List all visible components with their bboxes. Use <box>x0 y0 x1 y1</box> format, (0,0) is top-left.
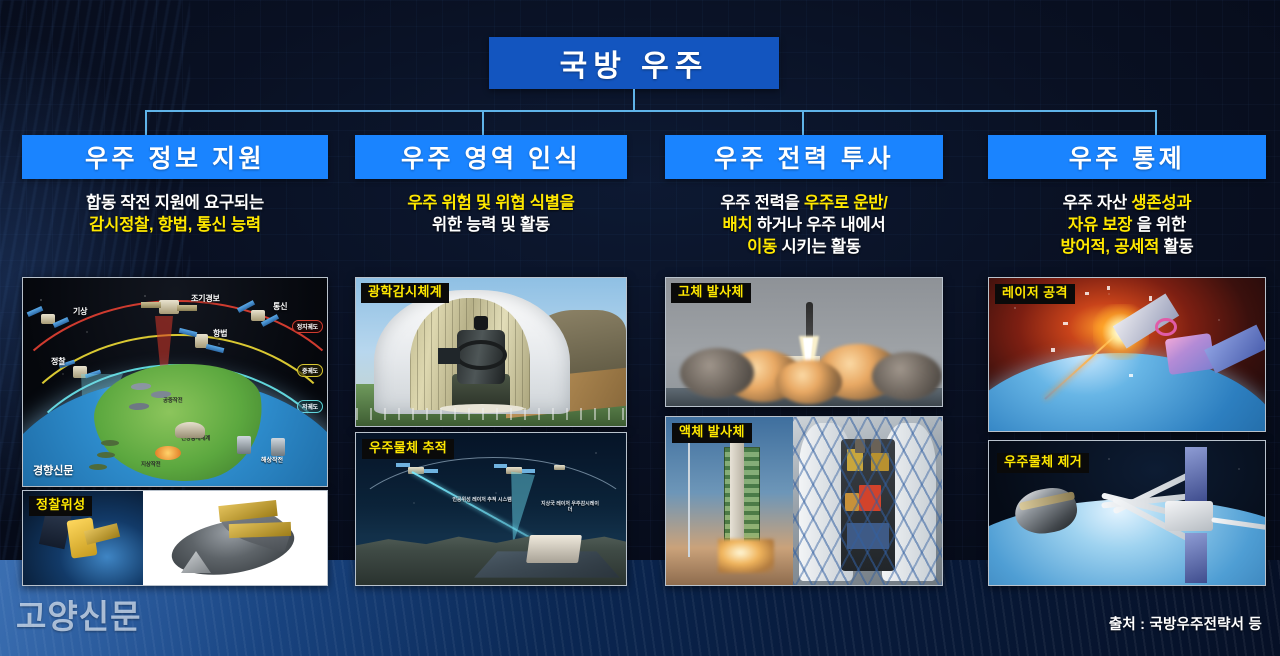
publisher-watermark: 고양신문 <box>16 590 141 638</box>
tracked-satellite-1-wing-right <box>424 469 438 473</box>
column-2-header-label: 우주 영역 인식 <box>401 139 581 175</box>
satellite-label-navigation: 항법 <box>213 328 227 339</box>
debris-fragment-3 <box>1107 286 1110 290</box>
servicer-solar-panel-top <box>1185 447 1207 501</box>
asset-ground-vehicle-3 <box>89 464 107 470</box>
connector-title-vertical <box>633 89 635 111</box>
panel-satellite-operations-diagram: 정지궤도 중궤도 저궤도 기상 조기경보 통신 항법 정찰 공중작전 지상 <box>22 277 328 487</box>
connector-branch-4 <box>1155 110 1157 137</box>
column-1-header: 우주 정보 지원 <box>22 135 328 179</box>
connector-branch-3 <box>802 110 804 137</box>
column-4-desc-line-3: 방어적, 공세적 활동 <box>988 236 1266 258</box>
observatory-fence-rail <box>356 408 626 420</box>
satellite-early-warning-wing-right <box>177 305 197 311</box>
launch-smoke-center <box>776 360 842 404</box>
connector-horizontal-bus <box>145 110 1157 112</box>
column-2-desc-line-1: 우주 위험 및 위협 식별을 <box>355 192 627 214</box>
slide-title-box: 국방 우주 <box>489 37 779 89</box>
defense-space-infographic: 국방 우주 우주 정보 지원 합동 작전 지원에 요구되는 감시정찰, 항법, … <box>0 0 1280 656</box>
column-space-domain-awareness: 우주 영역 인식 우주 위험 및 위협 식별을 위한 능력 및 활동 <box>355 135 627 236</box>
column-3-desc-line-3: 이동 시키는 활동 <box>665 236 943 258</box>
debris-fragment-1 <box>1085 292 1089 295</box>
column-4-desc-line-2: 자유 보장 을 위한 <box>988 214 1266 236</box>
launch-smoke-far-right <box>872 352 942 400</box>
column-3-description: 우주 전력을 우주로 운반/ 배치 하거나 우주 내에서 이동 시키는 활동 <box>665 192 943 258</box>
column-4-description: 우주 자산 생존성과 자유 보장 을 위한 방어적, 공세적 활동 <box>988 192 1266 258</box>
tracked-satellite-2-wing-right <box>522 469 535 473</box>
column-1-desc-line-1: 합동 작전 지원에 요구되는 <box>22 192 328 214</box>
launch-tower-crane <box>688 439 690 557</box>
asset-command-dome <box>175 422 205 438</box>
column-3-desc-line-1: 우주 전력을 우주로 운반/ <box>665 192 943 214</box>
liquid-launch-photo-right <box>793 417 942 585</box>
panel-reconnaissance-satellite: 정찰위성 <box>22 490 328 586</box>
column-1-header-label: 우주 정보 지원 <box>85 139 265 175</box>
column-2-description: 우주 위험 및 위협 식별을 위한 능력 및 활동 <box>355 192 627 236</box>
connector-branch-1 <box>145 110 147 137</box>
satellite-communication-body <box>251 310 265 321</box>
fairing-support-truss <box>793 417 942 585</box>
source-note: 출처 : 국방우주전략서 등 <box>1109 613 1262 634</box>
column-2-desc-line-2: 위한 능력 및 활동 <box>355 214 627 236</box>
tracked-satellite-2-wing-left <box>494 464 507 468</box>
liquid-rocket-exhaust <box>718 539 774 573</box>
telescope-instrument-box <box>438 348 460 364</box>
panel-space-object-removal: 우주물체 제거 <box>988 440 1266 586</box>
satellite-label-communication: 통신 <box>273 301 287 312</box>
panel-label-space-object-removal: 우주물체 제거 <box>997 453 1089 473</box>
column-3-desc-line-2: 배치 하거나 우주 내에서 <box>665 214 943 236</box>
column-2-header: 우주 영역 인식 <box>355 135 627 179</box>
column-space-power-projection: 우주 전력 투사 우주 전력을 우주로 운반/ 배치 하거나 우주 내에서 이동… <box>665 135 943 258</box>
servicer-solar-panel-bottom <box>1185 533 1207 583</box>
panel-label-reconnaissance-satellite: 정찰위성 <box>29 496 92 516</box>
servicer-satellite-body <box>1165 501 1213 531</box>
panel-optical-surveillance-system: 광학감시체계 <box>355 277 627 427</box>
tracked-satellite-3 <box>554 465 565 470</box>
slide-title-text: 국방 우주 <box>560 41 709 85</box>
recon-gold-panel-mid <box>229 522 291 538</box>
satellite-label-weather: 기상 <box>73 306 87 317</box>
satellite-early-warning-wing-left <box>141 302 161 308</box>
debris-fragment-5 <box>1051 348 1055 352</box>
column-1-desc-line-2: 감시정찰, 항법, 통신 능력 <box>22 214 328 236</box>
ground-station-building <box>526 535 582 563</box>
launch-smoke-far-left <box>680 348 754 398</box>
panel-label-laser-attack: 레이저 공격 <box>995 284 1075 304</box>
column-space-control: 우주 통제 우주 자산 생존성과 자유 보장 을 위한 방어적, 공세적 활동 <box>988 135 1266 258</box>
scene-label-ground-operations: 지상작전 <box>141 460 160 468</box>
panel-space-object-tracking: 인공위성 레이저 추적 시스템 지상국 레이저 우주감시레이더 우주물체 추적 <box>355 432 627 586</box>
asset-ground-vehicle-1 <box>101 440 119 446</box>
column-3-header: 우주 전력 투사 <box>665 135 943 179</box>
asset-ground-strike-flare <box>155 446 181 460</box>
panel-laser-attack: 레이저 공격 <box>988 277 1266 432</box>
panel-label-optical-surveillance-system: 광학감시체계 <box>361 283 449 303</box>
panel-label-space-object-tracking: 우주물체 추적 <box>362 439 454 459</box>
column-4-header-label: 우주 통제 <box>1069 139 1185 175</box>
panel-label-liquid-propellant-launch-vehicle: 액체 발사체 <box>672 423 752 443</box>
debris-fragment-6 <box>1149 296 1152 301</box>
column-space-information-support: 우주 정보 지원 합동 작전 지원에 요구되는 감시정찰, 항법, 통신 능력 <box>22 135 328 236</box>
tracking-note-radar-system: 지상국 레이저 우주감시레이더 <box>540 501 600 514</box>
press-credit-label: 경향신문 <box>33 462 73 478</box>
asset-ship-1 <box>237 436 251 454</box>
panel-solid-propellant-launch-vehicle: 고체 발사체 <box>665 277 943 407</box>
telescope-guide-camera <box>474 316 488 330</box>
connector-branch-2 <box>482 110 484 137</box>
debris-fragment-4 <box>1129 374 1133 377</box>
satellite-label-early-warning: 조기경보 <box>191 293 220 304</box>
satellite-early-warning-body <box>159 300 179 314</box>
tracking-note-laser-system: 인공위성 레이저 추적 시스템 <box>452 497 512 503</box>
panel-liquid-propellant-launch-vehicle: 액체 발사체 <box>665 416 943 586</box>
satellite-label-recon: 정찰 <box>51 356 65 367</box>
column-1-description: 합동 작전 지원에 요구되는 감시정찰, 항법, 통신 능력 <box>22 192 328 236</box>
tracked-satellite-1-wing-left <box>396 463 410 467</box>
column-4-header: 우주 통제 <box>988 135 1266 179</box>
debris-fragment-2 <box>1063 322 1068 325</box>
liquid-rocket-body <box>730 435 744 547</box>
asset-ship-2 <box>271 438 285 456</box>
orbit-label-geostationary: 정지궤도 <box>292 320 323 333</box>
target-satellite-antenna-ring <box>1155 318 1177 336</box>
orbit-label-medium: 중궤도 <box>297 364 323 377</box>
panel-label-solid-propellant-launch-vehicle: 고체 발사체 <box>671 283 751 303</box>
scene-label-naval-operations: 해상작전 <box>261 455 283 464</box>
telescope-aperture-ring <box>455 340 507 370</box>
column-4-desc-line-1: 우주 자산 생존성과 <box>988 192 1266 214</box>
asset-ground-vehicle-2 <box>97 452 115 458</box>
column-3-header-label: 우주 전력 투사 <box>714 139 894 175</box>
